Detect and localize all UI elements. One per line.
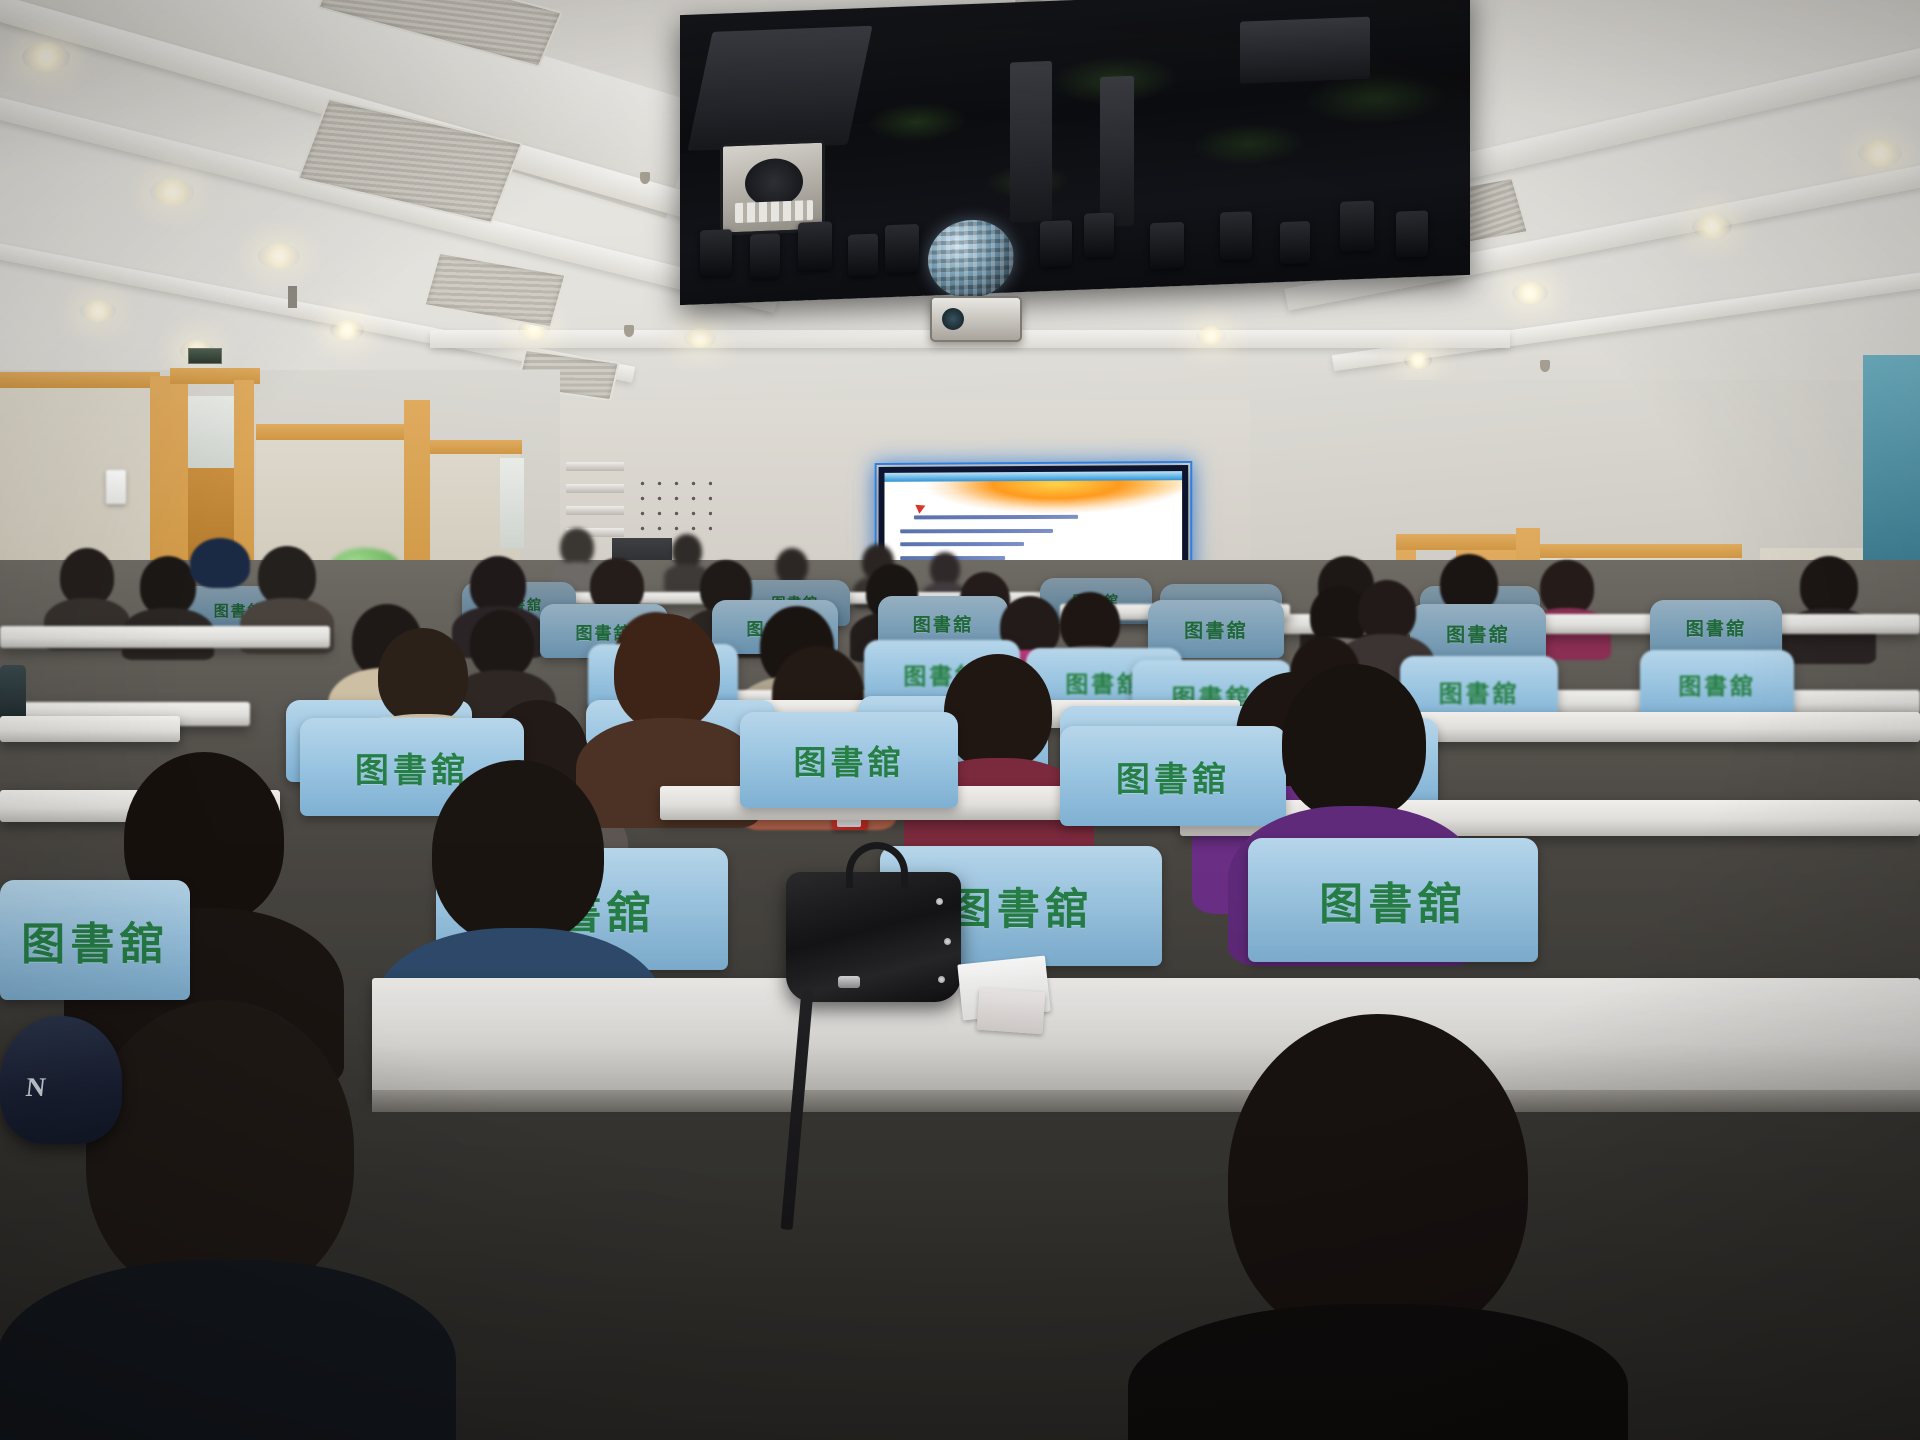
stage-light (750, 233, 780, 278)
person-head (672, 534, 702, 568)
stage-light (885, 224, 919, 273)
wood-door-frame (1396, 534, 1536, 550)
person-shoulders (0, 1260, 456, 1440)
person-head (1282, 664, 1426, 820)
stage-light (1084, 213, 1114, 258)
downlight (22, 42, 70, 72)
person-head (930, 552, 960, 586)
chair-label: 图書舘 (1439, 674, 1520, 709)
lecture-hall-photo: 图書舘 图書舘 图書舘 图書舘 图書舘 图書舘 (0, 0, 1920, 1440)
handbag[interactable] (786, 872, 961, 1002)
stage-light (798, 221, 832, 270)
wall-notice (106, 470, 126, 504)
desk-edge (372, 1090, 1920, 1112)
chair-label: 图書舘 (1678, 667, 1755, 701)
wood-trim (256, 424, 406, 440)
handbag-clasp (838, 976, 860, 988)
desk-row (0, 626, 330, 648)
person-head (1060, 592, 1120, 654)
person-head (1228, 1014, 1528, 1344)
person-head (944, 654, 1052, 770)
stage-light (1340, 201, 1374, 252)
chair[interactable]: 图書舘 (740, 712, 958, 808)
slide-bullet (900, 542, 1024, 546)
stage-light (700, 229, 732, 276)
person-head (86, 1000, 354, 1300)
person-head (1800, 556, 1858, 616)
downlight (258, 243, 300, 269)
downlight (150, 178, 194, 206)
downlight (1512, 282, 1548, 304)
paper-sheet (977, 988, 1046, 1035)
desk-row (372, 978, 1920, 1098)
wood-trim (430, 440, 522, 454)
projector-lens (942, 308, 964, 330)
slide-bullet (914, 515, 1078, 520)
chair-label: 图書舘 (1686, 615, 1746, 641)
exit-sign (188, 348, 222, 364)
person-head (776, 548, 808, 584)
wood-trim (1540, 544, 1742, 558)
chair-label: 图書舘 (1184, 616, 1248, 643)
truss-panel (1010, 61, 1052, 223)
handbag-stud (944, 938, 951, 945)
chair-label: 图書舘 (1319, 868, 1467, 932)
slide-header-graphic (884, 480, 1182, 533)
acoustic-panel (634, 476, 712, 540)
chair-label: 图書舘 (1116, 752, 1230, 801)
slide-bullet (900, 528, 1053, 532)
wall-slat (566, 462, 624, 471)
person-head (560, 528, 594, 566)
truss-panel (687, 26, 872, 151)
speaker-grill (735, 200, 813, 223)
handbag-stud (936, 898, 943, 905)
door-window (500, 458, 524, 548)
handbag-stud (938, 976, 945, 983)
ceiling-lighting-truss (680, 0, 1470, 305)
downlight (1196, 326, 1226, 345)
chair[interactable]: 图書舘 (1640, 650, 1794, 718)
chair-label: 图書舘 (794, 736, 905, 784)
wall-slat (566, 506, 624, 515)
desk-row (0, 716, 180, 742)
person-head (432, 760, 604, 944)
projector-mount (288, 286, 297, 308)
downlight (80, 300, 116, 322)
person-head (614, 614, 720, 730)
chair-label: 图書舘 (1446, 620, 1510, 647)
person-head (190, 538, 250, 588)
chair[interactable]: 图書舘 (1060, 726, 1286, 826)
sprinkler-head (640, 172, 650, 184)
bucket-hat: N (0, 1016, 122, 1144)
chair[interactable]: 图書舘 (0, 880, 190, 1000)
chair[interactable]: 图書舘 (1650, 600, 1782, 656)
chair[interactable]: 图書舘 (1248, 838, 1538, 962)
truss-panel (1100, 76, 1134, 227)
downlight (1404, 352, 1432, 369)
person-head (1358, 580, 1416, 642)
stage-light (1150, 222, 1184, 269)
person-head (378, 628, 468, 724)
wood-trim (0, 372, 160, 388)
downlight (684, 328, 716, 348)
stage-light (1040, 220, 1072, 267)
stage-light (1220, 211, 1252, 260)
wall-slat (566, 484, 624, 493)
ceiling-projector (930, 296, 1022, 342)
truss-panel (1240, 17, 1370, 84)
chair-label: 图書舘 (949, 875, 1093, 937)
chair-label: 图書舘 (21, 908, 169, 972)
sprinkler-head (624, 325, 634, 337)
window (1863, 355, 1920, 570)
downlight (330, 320, 364, 340)
stage-light (1396, 210, 1428, 257)
chair-label: 图書舘 (355, 743, 469, 792)
person-head (258, 546, 316, 606)
person-head (470, 610, 534, 678)
downlight (1858, 140, 1902, 167)
hat-logo: N (24, 1072, 47, 1103)
person-head (140, 556, 196, 616)
door-window (188, 396, 234, 468)
sprinkler-head (1540, 360, 1550, 372)
downlight (1692, 214, 1732, 239)
stage-light (1280, 221, 1310, 264)
chair-label: 图書舘 (913, 611, 973, 637)
stage-light (848, 234, 878, 277)
